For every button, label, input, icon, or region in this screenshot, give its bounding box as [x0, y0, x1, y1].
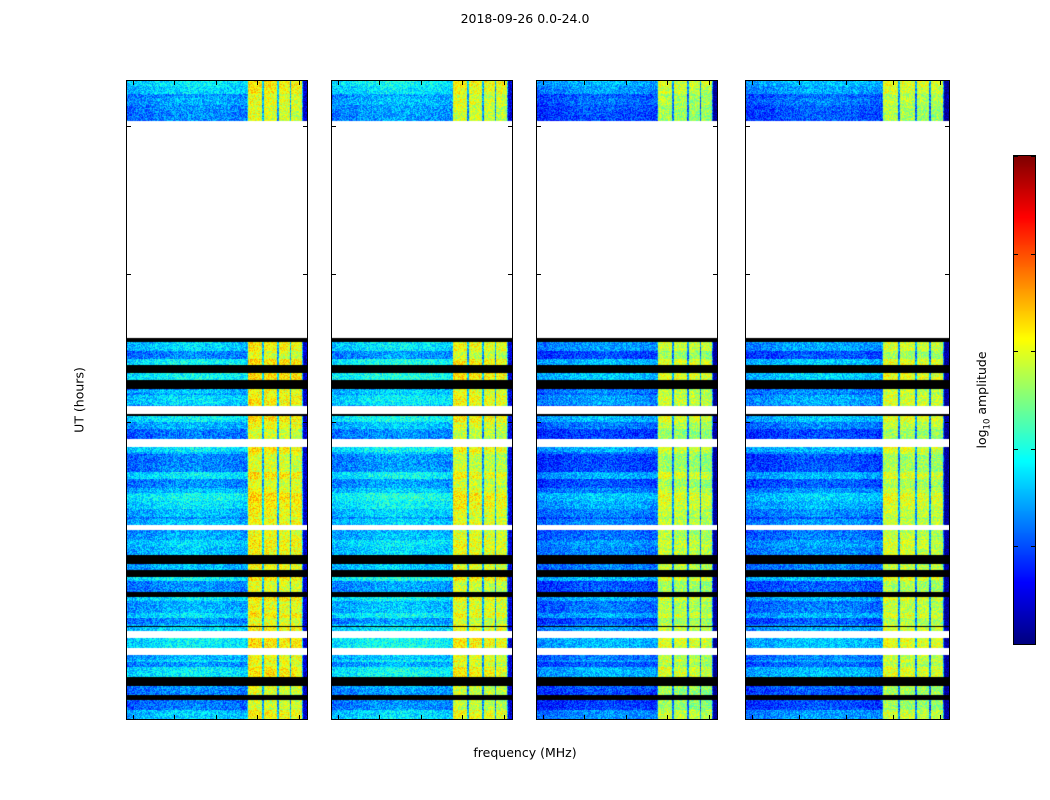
y-tick-mark [127, 274, 131, 275]
y-tick-mark [127, 126, 131, 127]
waterfall-image-xy [537, 81, 717, 719]
x-tick-mark [799, 715, 800, 719]
y-tick-mark [945, 719, 949, 720]
x-tick-mark [421, 81, 422, 85]
heatmap-panel-xx[interactable]: XX, V0*V13=EA20*EA11 0510152032033535036… [126, 80, 308, 720]
x-tick-mark [257, 81, 258, 85]
x-tick-mark [338, 715, 339, 719]
x-tick-mark [846, 715, 847, 719]
y-tick-mark [303, 422, 307, 423]
x-tick-mark [543, 715, 544, 719]
x-tick-mark [709, 81, 710, 85]
x-tick-mark [752, 81, 753, 85]
y-tick-mark [945, 571, 949, 572]
y-tick-mark [746, 719, 750, 720]
colorbar-tick-mark [1031, 254, 1035, 255]
x-tick-mark [379, 715, 380, 719]
y-tick-mark [127, 719, 131, 720]
x-tick-mark [667, 715, 668, 719]
heatmap-panel-yx[interactable]: YX, V0*V13=EA20*EA11 0510152032033535036… [745, 80, 950, 720]
x-tick-mark [462, 81, 463, 85]
x-tick-mark [299, 715, 300, 719]
x-tick-mark [626, 81, 627, 85]
x-tick-mark [626, 715, 627, 719]
y-tick-mark [537, 719, 541, 720]
y-tick-mark [332, 571, 336, 572]
y-tick-mark [537, 422, 541, 423]
colorbar-tick-mark [1014, 156, 1018, 157]
y-tick-mark [303, 571, 307, 572]
colorbar-tick-mark [1031, 156, 1035, 157]
x-axis-label: frequency (MHz) [0, 745, 1050, 760]
y-tick-mark [508, 274, 512, 275]
x-tick-mark [543, 81, 544, 85]
colorbar[interactable]: -4-3-2-101 [1013, 155, 1036, 645]
x-tick-mark [216, 715, 217, 719]
x-tick-mark [338, 81, 339, 85]
x-tick-mark [846, 81, 847, 85]
x-tick-mark [174, 715, 175, 719]
x-tick-mark [133, 715, 134, 719]
y-tick-mark [508, 422, 512, 423]
y-tick-mark [713, 422, 717, 423]
colorbar-tick-mark [1031, 351, 1035, 352]
colorbar-gradient [1014, 156, 1035, 644]
y-tick-mark [713, 571, 717, 572]
y-tick-mark [713, 719, 717, 720]
y-tick-mark [945, 126, 949, 127]
x-tick-mark [462, 715, 463, 719]
x-tick-mark [421, 715, 422, 719]
x-tick-mark [379, 81, 380, 85]
waterfall-image-xx [127, 81, 307, 719]
waterfall-image-yy [332, 81, 512, 719]
colorbar-label-base: log [974, 429, 989, 448]
y-tick-mark [127, 422, 131, 423]
y-tick-mark [303, 126, 307, 127]
x-tick-mark [216, 81, 217, 85]
colorbar-tick-mark [1014, 254, 1018, 255]
waterfall-image-yx [746, 81, 949, 719]
colorbar-tick-mark [1014, 351, 1018, 352]
figure-canvas: 2018-09-26 0.0-24.0 UT (hours) frequency… [0, 0, 1050, 800]
y-tick-mark [746, 126, 750, 127]
y-tick-mark [537, 571, 541, 572]
x-tick-mark [174, 81, 175, 85]
x-tick-mark [299, 81, 300, 85]
y-tick-mark [537, 274, 541, 275]
colorbar-tick-mark [1014, 644, 1018, 645]
y-tick-mark [537, 126, 541, 127]
y-tick-mark [508, 719, 512, 720]
heatmap-panel-xy[interactable]: XY, V0*V13=EA20*EA11 0510152032033535036… [536, 80, 718, 720]
y-tick-mark [127, 571, 131, 572]
y-tick-mark [332, 126, 336, 127]
y-tick-mark [332, 274, 336, 275]
x-tick-mark [584, 715, 585, 719]
x-tick-mark [893, 81, 894, 85]
colorbar-tick-mark [1031, 449, 1035, 450]
y-tick-mark [713, 126, 717, 127]
y-tick-mark [746, 274, 750, 275]
y-tick-mark [508, 571, 512, 572]
x-tick-mark [940, 81, 941, 85]
y-tick-mark [303, 274, 307, 275]
y-tick-mark [303, 719, 307, 720]
x-tick-mark [133, 81, 134, 85]
x-tick-mark [667, 81, 668, 85]
heatmap-panel-yy[interactable]: YY, V0*V13=EA20*EA11 0510152032033535036… [331, 80, 513, 720]
y-tick-mark [945, 422, 949, 423]
x-tick-mark [584, 81, 585, 85]
colorbar-label-sub: 10 [982, 419, 992, 430]
colorbar-label-tail: amplitude [974, 351, 989, 418]
y-tick-mark [746, 422, 750, 423]
colorbar-label: log10 amplitude [974, 351, 993, 448]
y-tick-mark [945, 274, 949, 275]
y-tick-mark [332, 422, 336, 423]
colorbar-tick-mark [1031, 546, 1035, 547]
x-tick-mark [504, 715, 505, 719]
y-tick-mark [508, 126, 512, 127]
x-tick-mark [893, 715, 894, 719]
y-axis-label: UT (hours) [72, 367, 87, 433]
x-tick-mark [752, 715, 753, 719]
colorbar-tick-mark [1014, 449, 1018, 450]
y-tick-mark [713, 274, 717, 275]
x-tick-mark [257, 715, 258, 719]
x-tick-mark [504, 81, 505, 85]
x-tick-mark [709, 715, 710, 719]
colorbar-tick-mark [1014, 546, 1018, 547]
colorbar-tick-mark [1031, 644, 1035, 645]
y-tick-mark [746, 571, 750, 572]
x-tick-mark [940, 715, 941, 719]
x-tick-mark [799, 81, 800, 85]
figure-suptitle: 2018-09-26 0.0-24.0 [0, 11, 1050, 26]
y-tick-mark [332, 719, 336, 720]
